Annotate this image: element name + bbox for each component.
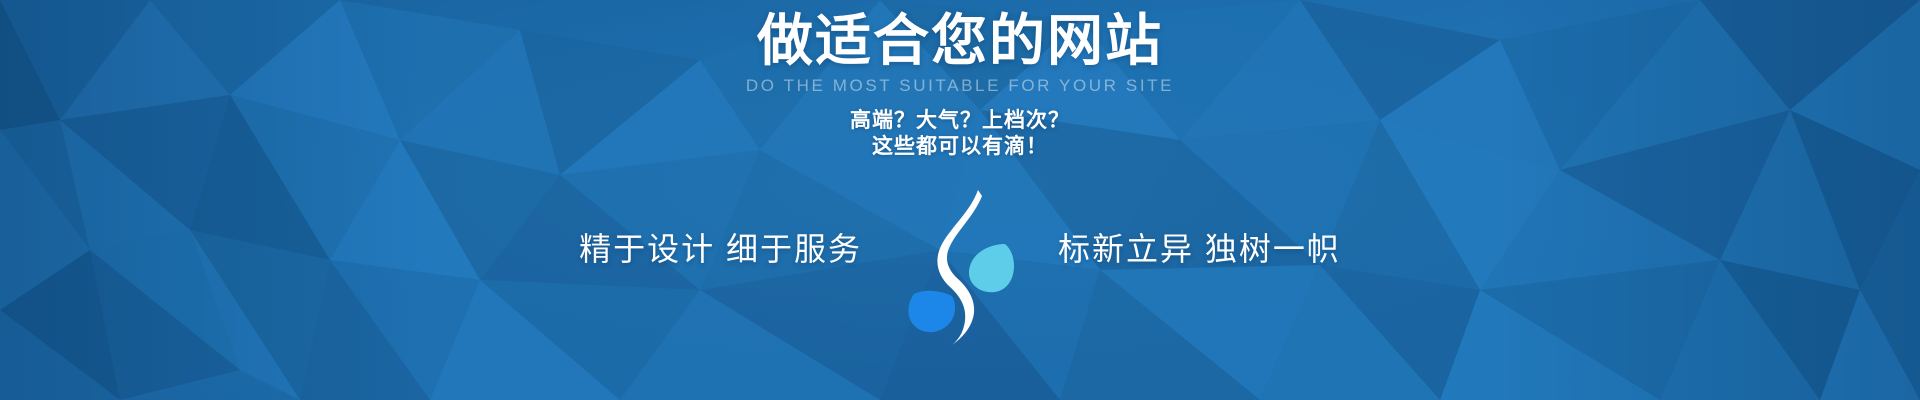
claim-line-1: 高端？大气？上档次？ xyxy=(0,108,1920,134)
slogan-left: 精于设计 细于服务 xyxy=(490,227,890,271)
hero-banner: 做适合您的网站 DO THE MOST SUITABLE FOR YOUR SI… xyxy=(0,0,1920,400)
claim-line-2: 这些都可以有滴！ xyxy=(0,134,1920,160)
slogan-right: 标新立异 独树一帜 xyxy=(1030,227,1430,271)
subtitle-english: DO THE MOST SUITABLE FOR YOUR SITE xyxy=(0,76,1920,96)
logo-slot xyxy=(890,226,1030,272)
slogan-row: 精于设计 细于服务 标新立异 独树一帜 xyxy=(0,226,1920,272)
page-title: 做适合您的网站 xyxy=(0,10,1920,72)
leaf-sprout-logo-icon xyxy=(900,186,1020,346)
